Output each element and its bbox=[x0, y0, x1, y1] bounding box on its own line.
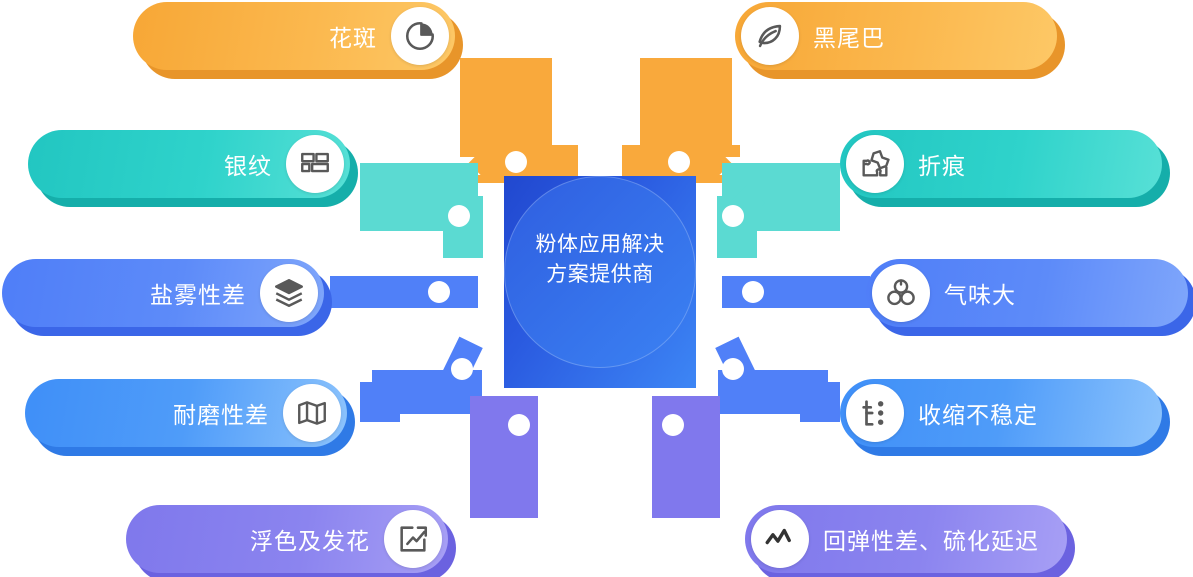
pill-body[interactable]: 浮色及发花 bbox=[126, 505, 448, 573]
brick-wall-icon bbox=[286, 135, 344, 193]
node-shou-suo-bu-wen-ding[interactable]: 收缩不稳定 bbox=[840, 379, 1162, 447]
pill-body[interactable]: 花斑 bbox=[133, 2, 455, 70]
pill-body[interactable]: 收缩不稳定 bbox=[840, 379, 1162, 447]
pill-label: 浮色及发花 bbox=[250, 522, 370, 556]
node-yan-wu-xing-cha[interactable]: 盐雾性差 bbox=[2, 259, 324, 327]
trend-up-chart-icon bbox=[384, 510, 442, 568]
pill-label: 黑尾巴 bbox=[813, 19, 885, 53]
node-yin-wen[interactable]: 银纹 bbox=[28, 130, 350, 198]
pill-body[interactable]: 气味大 bbox=[866, 259, 1188, 327]
node-hui-tan-xing-cha[interactable]: 回弹性差、硫化延迟 bbox=[745, 505, 1067, 573]
pill-label: 折痕 bbox=[918, 147, 966, 181]
center-label: 粉体应用解决 方案提供商 bbox=[504, 230, 696, 290]
pie-chart-icon bbox=[391, 7, 449, 65]
map-icon bbox=[283, 384, 341, 442]
node-fu-se-ji-fa-hua[interactable]: 浮色及发花 bbox=[126, 505, 448, 573]
node-qi-wei-da[interactable]: 气味大 bbox=[866, 259, 1188, 327]
leaf-icon bbox=[741, 7, 799, 65]
pill-label: 花斑 bbox=[329, 19, 377, 53]
sitemap-icon bbox=[846, 384, 904, 442]
pill-body[interactable]: 回弹性差、硫化延迟 bbox=[745, 505, 1067, 573]
line-chart-icon bbox=[751, 510, 809, 568]
recycle-icon bbox=[872, 264, 930, 322]
pill-body[interactable]: 耐磨性差 bbox=[25, 379, 347, 447]
node-hua-ban[interactable]: 花斑 bbox=[133, 2, 455, 70]
center-node: 粉体应用解决 方案提供商 bbox=[504, 176, 696, 388]
pill-label: 收缩不稳定 bbox=[918, 396, 1038, 430]
infographic-canvas: 粉体应用解决 方案提供商 花斑 黑尾巴 bbox=[0, 0, 1193, 577]
pill-body[interactable]: 黑尾巴 bbox=[735, 2, 1057, 70]
pill-label: 银纹 bbox=[224, 147, 272, 181]
node-nai-mo-xing-cha[interactable]: 耐磨性差 bbox=[25, 379, 347, 447]
layers-icon bbox=[260, 264, 318, 322]
pill-body[interactable]: 盐雾性差 bbox=[2, 259, 324, 327]
pill-label: 盐雾性差 bbox=[150, 276, 246, 310]
pill-body[interactable]: 折痕 bbox=[840, 130, 1162, 198]
node-zhe-hen[interactable]: 折痕 bbox=[840, 130, 1162, 198]
pill-label: 耐磨性差 bbox=[173, 396, 269, 430]
node-hei-wei-ba[interactable]: 黑尾巴 bbox=[735, 2, 1057, 70]
pill-label: 回弹性差、硫化延迟 bbox=[823, 522, 1039, 556]
puzzle-piece-icon bbox=[846, 135, 904, 193]
pill-label: 气味大 bbox=[944, 276, 1016, 310]
pill-body[interactable]: 银纹 bbox=[28, 130, 350, 198]
